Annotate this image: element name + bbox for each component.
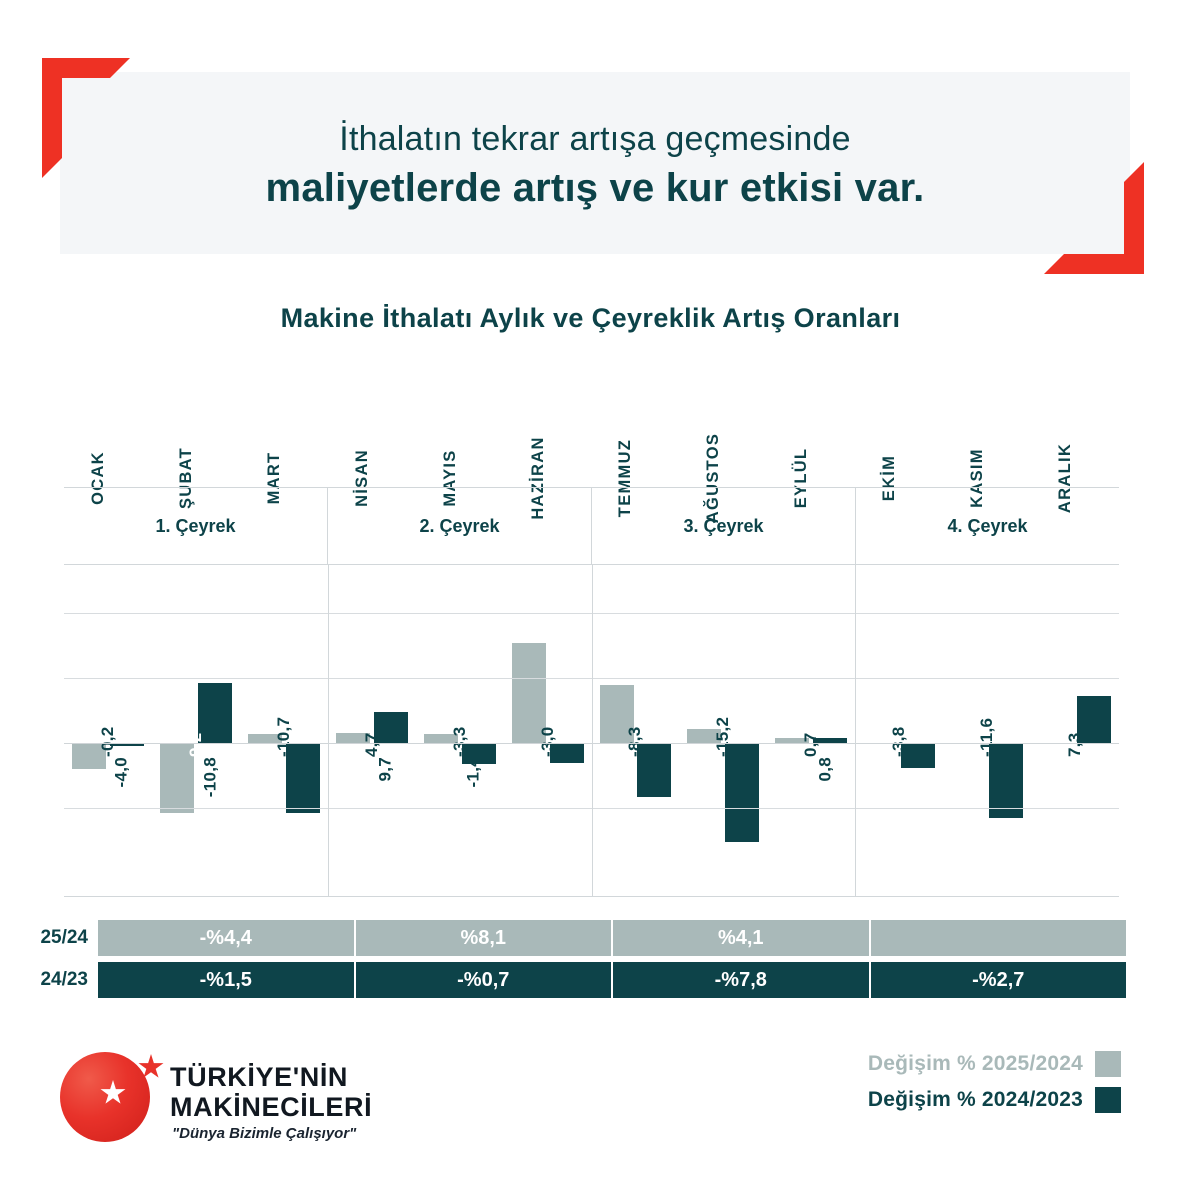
bar-group-mayis: -1,4-3,3 [416, 565, 504, 897]
legend-swatch [1095, 1087, 1121, 1113]
summary-cell-q3: -%7,8 [613, 962, 871, 998]
bar-value-label: -4,0 [112, 757, 132, 788]
bar-group-temmuz: 8,9-8,3 [592, 565, 680, 897]
bar-value-label: 0,7 [801, 732, 821, 757]
summary-cell-q2: %8,1 [356, 920, 614, 956]
month-cell: KASIM [943, 368, 1031, 478]
bar-value-label: -3,0 [538, 727, 558, 758]
quarter-header-3: 3. Çeyrek [592, 488, 856, 564]
summary-cell-q2: -%0,7 [356, 962, 614, 998]
month-cell: AĞUSTOS [679, 368, 767, 478]
logo-line-2: MAKİNECİLERİ [170, 1092, 372, 1123]
bar-value-label: 9,2 [186, 732, 206, 757]
month-cell: OCAK [64, 368, 152, 478]
bar-value-label: 7,3 [1065, 732, 1085, 757]
bar-value-label: -11,6 [977, 718, 997, 757]
bar-value-label: 9,7 [376, 757, 396, 782]
bar-group-aralik: 7,3 [1031, 565, 1119, 897]
legend-item-2024-2023: Değişim % 2024/2023 [701, 1087, 1121, 1113]
headline-line-2: maliyetlerde artış ve kur etkisi var. [60, 166, 1130, 211]
summary-cell-q1: -%4,4 [98, 920, 356, 956]
summary-cell-q3: %4,1 [613, 920, 871, 956]
red-sphere-icon [60, 1052, 150, 1142]
quarter-divider-2 [592, 565, 593, 897]
brand-logo: TÜRKİYE'NİN MAKİNECİLERİ "Dünya Bizimle … [52, 1040, 472, 1150]
legend-label: Değişim % 2025/2024 [868, 1052, 1083, 1076]
logo-line-1: TÜRKİYE'NİN [170, 1062, 348, 1093]
month-cell: EYLÜL [767, 368, 855, 478]
bar-value-label: -10,8 [200, 757, 220, 797]
bar-value-label: -15,2 [713, 717, 733, 757]
bar-value-label: 0,8 [815, 757, 835, 782]
legend-label: Değişim % 2024/2023 [868, 1088, 1083, 1112]
month-cell: MAYIS [416, 368, 504, 478]
headline-line-1: İthalatın tekrar artışa geçmesinde [60, 120, 1130, 159]
header-panel [60, 72, 1130, 254]
bar-group-şubat: -10,89,2 [152, 565, 240, 897]
chart-plot-area: -4,0-0,2-10,89,21,4-10,79,74,7-1,4-3,315… [64, 565, 1119, 897]
month-cell: HAZİRAN [504, 368, 592, 478]
summary-cells: -%1,5-%0,7-%7,8-%2,7 [98, 962, 1126, 998]
bar-group-ni̇san: 9,74,7 [328, 565, 416, 897]
bar-value-label: -8,3 [625, 727, 645, 758]
quarter-header-4: 4. Çeyrek [856, 488, 1119, 564]
bar-group-eki̇m: -3,8 [855, 565, 943, 897]
legend-item-2025-2024: Değişim % 2025/2024 [701, 1051, 1121, 1077]
summary-cell-q1: -%1,5 [98, 962, 356, 998]
bar-group-ocak: -4,0-0,2 [64, 565, 152, 897]
bar-value-label: -0,2 [98, 727, 118, 758]
logo-slogan: "Dünya Bizimle Çalışıyor" [172, 1125, 356, 1142]
quarter-divider-1 [328, 565, 329, 897]
month-cell: MART [240, 368, 328, 478]
chart-title: Makine İthalatı Aylık ve Çeyreklik Artış… [0, 303, 1181, 334]
summary-row-25-24: 25/24-%4,4%8,1%4,1 [26, 920, 1126, 956]
month-cell: ARALIK [1031, 368, 1119, 478]
summary-row-label: 24/23 [26, 962, 98, 998]
bar-chart: 1. Çeyrek2. Çeyrek3. Çeyrek4. Çeyrek -4,… [64, 487, 1119, 897]
bar-group-eylül: 0,80,7 [767, 565, 855, 897]
summary-row-label: 25/24 [26, 920, 98, 956]
bar-value-label: 4,7 [362, 732, 382, 757]
summary-cell-q4: -%2,7 [871, 962, 1127, 998]
bar-group-hazi̇ran: 15,4-3,0 [504, 565, 592, 897]
footer: TÜRKİYE'NİN MAKİNECİLERİ "Dünya Bizimle … [0, 1025, 1181, 1175]
quarter-header-2: 2. Çeyrek [328, 488, 592, 564]
infographic-page: İthalatın tekrar artışa geçmesinde maliy… [0, 0, 1181, 1181]
legend-swatch [1095, 1051, 1121, 1077]
month-cell: ŞUBAT [152, 368, 240, 478]
summary-row-24-23: 24/23-%1,5-%0,7-%7,8-%2,7 [26, 962, 1126, 998]
bar-group-ağustos: 2,1-15,2 [679, 565, 767, 897]
quarter-header-row: 1. Çeyrek2. Çeyrek3. Çeyrek4. Çeyrek [64, 487, 1119, 565]
quarterly-summary-table: 25/24-%4,4%8,1%4,124/23-%1,5-%0,7-%7,8-%… [26, 920, 1126, 1004]
chart-legend: Değişim % 2025/2024Değişim % 2024/2023 [701, 1051, 1121, 1123]
month-cell: TEMMUZ [592, 368, 680, 478]
bar-group-mart: 1,4-10,7 [240, 565, 328, 897]
summary-cell-q4 [871, 920, 1127, 956]
summary-cells: -%4,4%8,1%4,1 [98, 920, 1126, 956]
quarter-header-1: 1. Çeyrek [64, 488, 328, 564]
bar-group-kasim: -11,6 [943, 565, 1031, 897]
month-cell: EKİM [855, 368, 943, 478]
month-cell: NİSAN [328, 368, 416, 478]
quarter-divider-3 [855, 565, 856, 897]
bar-value-label: -3,3 [450, 727, 470, 758]
bar-value-label: -3,8 [889, 727, 909, 758]
month-axis-labels: OCAKŞUBATMARTNİSANMAYISHAZİRANTEMMUZAĞUS… [64, 368, 1119, 478]
bar-value-label: -10,7 [274, 717, 294, 757]
header-banner: İthalatın tekrar artışa geçmesinde maliy… [42, 58, 1142, 268]
bar-ağustos-2024-2023 [725, 743, 759, 842]
